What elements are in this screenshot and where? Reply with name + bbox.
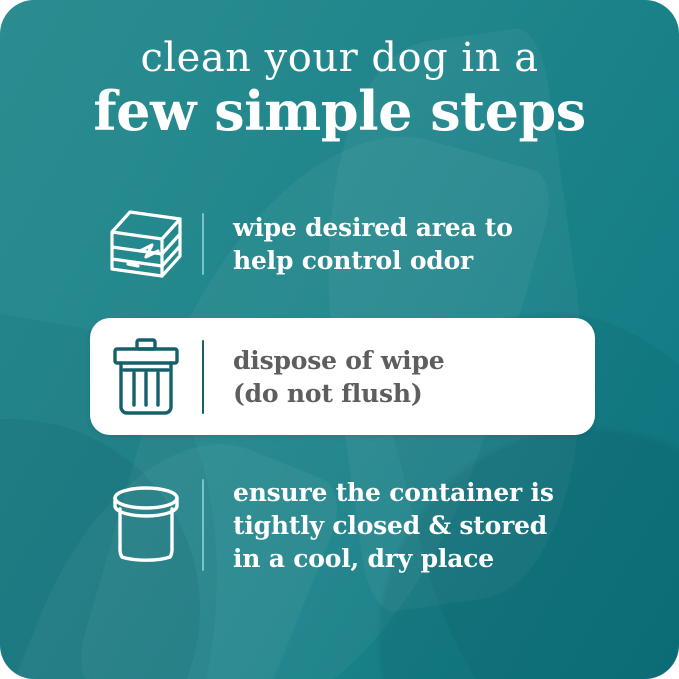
step-icon-container [90,337,202,417]
step-icon-container [90,484,202,566]
step-item-store: ensure the container is tightly closed &… [90,462,595,588]
container-tub-icon [109,484,183,566]
title-line-2: few simple steps [0,80,679,142]
title-line-1: clean your dog in a [0,34,679,82]
step-text-line-2: tightly closed & stored [233,509,595,542]
step-item-wipe: wipe desired area to help control odor [90,196,595,292]
step-text-line-2: help control odor [233,244,595,277]
step-icon-container [90,207,202,281]
step-text-container: wipe desired area to help control odor [204,211,595,277]
step-text-container: dispose of wipe (do not flush) [204,344,595,410]
page-title: clean your dog in a few simple steps [0,34,679,142]
step-item-dispose: dispose of wipe (do not flush) [90,318,595,435]
step-text-line-1: wipe desired area to [233,211,595,244]
instruction-poster: clean your dog in a few simple steps [0,0,679,679]
step-text-container: ensure the container is tightly closed &… [204,476,595,575]
step-text-line-1: ensure the container is [233,476,595,509]
step-text-line-2: (do not flush) [233,377,595,410]
trash-can-icon [109,337,183,417]
step-text-line-1: dispose of wipe [233,344,595,377]
wipes-stack-icon [100,207,192,281]
step-text-line-3: in a cool, dry place [233,542,595,575]
